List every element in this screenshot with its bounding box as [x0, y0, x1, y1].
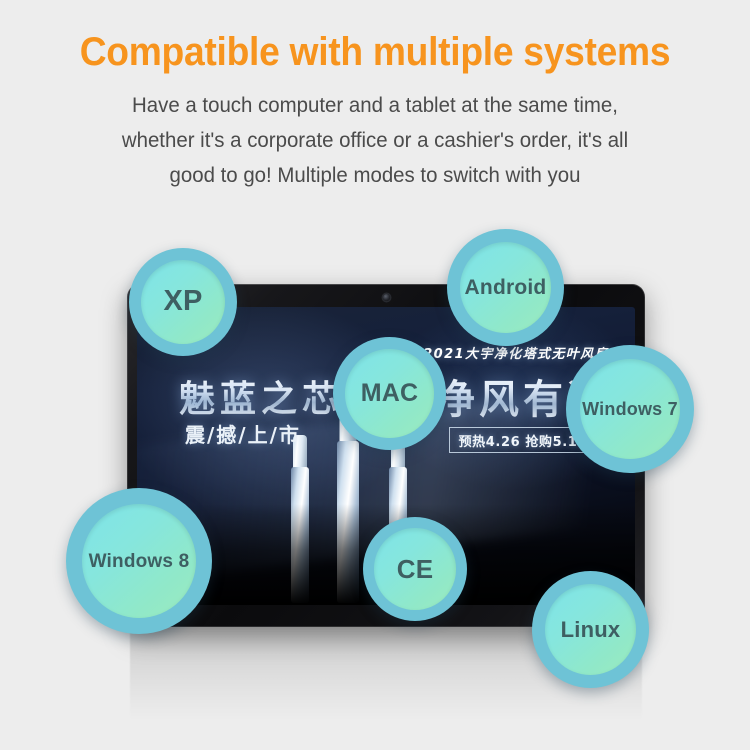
- ad-product-line: 2021大宇净化塔式无叶风扇: [423, 343, 609, 362]
- os-badge-xp[interactable]: XP: [129, 248, 237, 356]
- badge-label: CE: [397, 556, 434, 582]
- ad-headline-sub: 震/撼/上/市: [185, 419, 301, 448]
- badge-label: XP: [163, 287, 202, 316]
- badge-inner-disc: Windows 8: [82, 504, 196, 618]
- os-badge-mac[interactable]: MAC: [333, 337, 446, 450]
- badge-label: MAC: [361, 381, 419, 406]
- badge-label: Windows 8: [89, 552, 190, 571]
- os-badge-android[interactable]: Android: [447, 229, 564, 346]
- badge-inner-disc: Linux: [545, 584, 636, 675]
- badge-inner-disc: Android: [460, 242, 551, 333]
- badge-inner-disc: MAC: [345, 349, 433, 437]
- front-camera-icon: [383, 294, 390, 301]
- badge-inner-disc: Windows 7: [580, 359, 680, 459]
- badge-label: Android: [465, 277, 547, 298]
- badge-label: Windows 7: [582, 400, 678, 418]
- os-badge-windows-7[interactable]: Windows 7: [566, 345, 694, 473]
- os-badge-windows-8[interactable]: Windows 8: [66, 488, 212, 634]
- os-badge-ce[interactable]: CE: [363, 517, 467, 621]
- os-badge-linux[interactable]: Linux: [532, 571, 649, 688]
- product-stage: 魅蓝之芯 震/撼/上/市 2021大宇净化塔式无叶风扇 净风有速 预热4.26 …: [0, 0, 750, 750]
- badge-label: Linux: [561, 619, 621, 641]
- badge-inner-disc: CE: [374, 528, 455, 609]
- ad-headline: 魅蓝之芯: [179, 370, 343, 422]
- badge-inner-disc: XP: [141, 260, 225, 344]
